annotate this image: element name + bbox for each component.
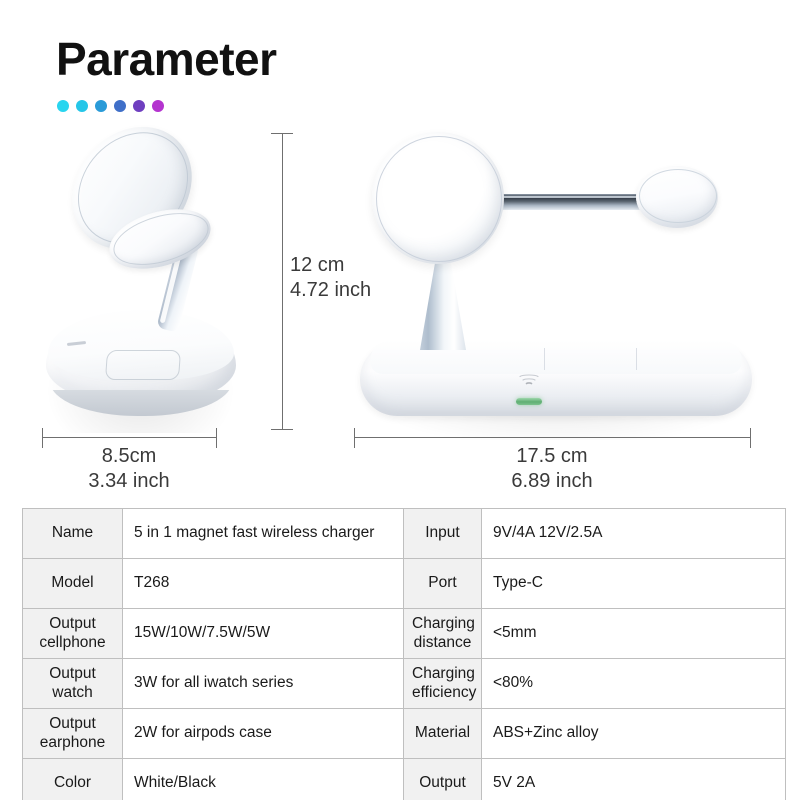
- height-dimension-line: [282, 133, 283, 429]
- wireless-charging-icon: [518, 374, 540, 387]
- accent-dot-4: [114, 100, 126, 112]
- spec-label-r4-c1: Output watch: [23, 659, 123, 709]
- spec-label-r3-c1: Output cellphone: [23, 609, 123, 659]
- accent-dot-row: [57, 100, 164, 112]
- led-indicator: [516, 398, 542, 405]
- left-width-dimension-label: 8.5cm 3.34 inch: [72, 444, 186, 494]
- accent-dot-3: [95, 100, 107, 112]
- spec-label-r1-c1: Name: [23, 509, 123, 559]
- spec-label-r2-c3: Port: [404, 559, 482, 609]
- right-width-dimension-label: 17.5 cm 6.89 inch: [470, 444, 634, 494]
- spec-value-r3-c4: <5mm: [482, 609, 786, 659]
- accent-dot-5: [133, 100, 145, 112]
- specification-table: Name5 in 1 magnet fast wireless chargerI…: [22, 508, 786, 800]
- spec-value-r2-c2: T268: [123, 559, 404, 609]
- spec-value-r1-c2: 5 in 1 magnet fast wireless charger: [123, 509, 404, 559]
- right-base-seam-right: [636, 348, 637, 370]
- spec-value-r4-c2: 3W for all iwatch series: [123, 659, 404, 709]
- right-base-seam-left: [544, 348, 545, 370]
- left-width-dimension-line: [42, 437, 216, 438]
- chrome-arm-highlight: [488, 196, 648, 198]
- height-dimension-cap-bottom: [271, 429, 293, 430]
- side-view-charger: [28, 128, 263, 438]
- right-width-inch-value: 6.89 inch: [470, 469, 634, 494]
- height-inch-value: 4.72 inch: [290, 278, 371, 303]
- spec-value-r5-c2: 2W for airpods case: [123, 709, 404, 759]
- spec-value-r6-c4: 5V 2A: [482, 759, 786, 800]
- height-dimension-cap-top: [271, 133, 293, 134]
- left-width-cm-value: 8.5cm: [72, 444, 186, 469]
- height-dimension-label: 12 cm 4.72 inch: [290, 253, 371, 303]
- height-cm-value: 12 cm: [290, 253, 371, 278]
- right-width-cm-value: 17.5 cm: [470, 444, 634, 469]
- spec-label-r6-c3: Output: [404, 759, 482, 800]
- spec-label-r1-c3: Input: [404, 509, 482, 559]
- product-illustration-stage: [0, 120, 800, 500]
- accent-dot-1: [57, 100, 69, 112]
- table-row: Output cellphone15W/10W/7.5W/5WCharging …: [23, 609, 786, 659]
- left-width-cap-start: [42, 428, 43, 448]
- spec-label-r2-c1: Model: [23, 559, 123, 609]
- spec-value-r6-c2: White/Black: [123, 759, 404, 800]
- front-view-charger: [348, 126, 768, 438]
- spec-label-r3-c3: Charging distance: [404, 609, 482, 659]
- left-charging-pad-outline: [105, 350, 181, 380]
- spec-label-r5-c1: Output earphone: [23, 709, 123, 759]
- specification-table-body: Name5 in 1 magnet fast wireless chargerI…: [23, 509, 786, 800]
- spec-label-r6-c1: Color: [23, 759, 123, 800]
- table-row: Output watch3W for all iwatch seriesChar…: [23, 659, 786, 709]
- spec-value-r5-c4: ABS+Zinc alloy: [482, 709, 786, 759]
- right-stem: [420, 254, 466, 350]
- table-row: ModelT268PortType-C: [23, 559, 786, 609]
- spec-label-r5-c3: Material: [404, 709, 482, 759]
- left-width-cap-end: [216, 428, 217, 448]
- spec-value-r4-c4: <80%: [482, 659, 786, 709]
- page-title: Parameter: [56, 36, 277, 82]
- right-width-dimension-line: [354, 437, 750, 438]
- table-row: Name5 in 1 magnet fast wireless chargerI…: [23, 509, 786, 559]
- accent-dot-2: [76, 100, 88, 112]
- spec-value-r3-c2: 15W/10W/7.5W/5W: [123, 609, 404, 659]
- table-row: Output earphone2W for airpods caseMateri…: [23, 709, 786, 759]
- spec-value-r2-c4: Type-C: [482, 559, 786, 609]
- spec-value-r1-c4: 9V/4A 12V/2.5A: [482, 509, 786, 559]
- right-magsafe-disc-rim: [376, 136, 502, 262]
- right-width-cap-start: [354, 428, 355, 448]
- spec-label-r4-c3: Charging efficiency: [404, 659, 482, 709]
- accent-dot-6: [152, 100, 164, 112]
- left-width-inch-value: 3.34 inch: [72, 469, 186, 494]
- table-row: ColorWhite/BlackOutput5V 2A: [23, 759, 786, 800]
- parameter-spec-page: Parameter: [0, 0, 800, 800]
- watch-charger-puck-rim: [639, 169, 717, 223]
- right-width-cap-end: [750, 428, 751, 448]
